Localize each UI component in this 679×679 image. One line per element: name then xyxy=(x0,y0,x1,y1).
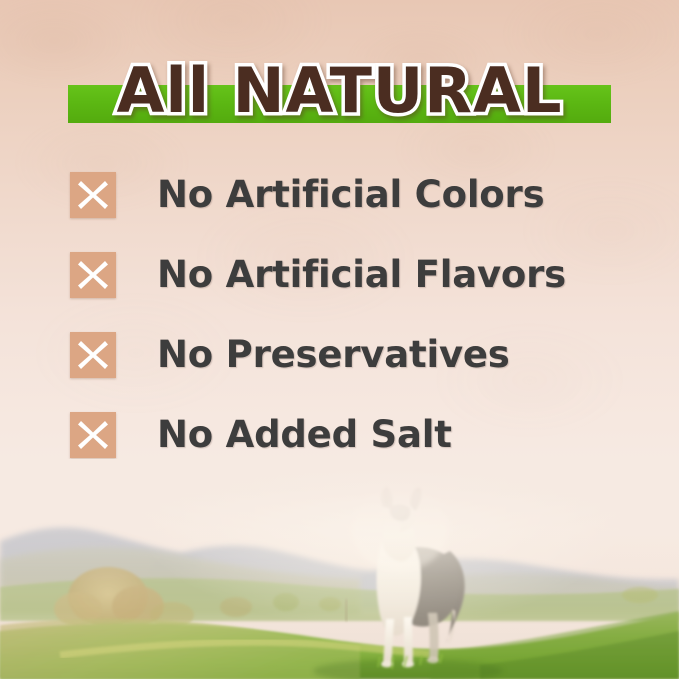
x-mark-icon xyxy=(70,412,116,458)
claim-row: No Artificial Flavors xyxy=(70,252,630,298)
claim-row: No Artificial Colors xyxy=(70,172,630,218)
x-mark-icon xyxy=(70,332,116,378)
claim-row: No Preservatives xyxy=(70,332,630,378)
headline-banner: All NATURAL xyxy=(0,48,679,134)
claim-label: No Artificial Flavors xyxy=(157,252,566,298)
claim-label: No Artificial Colors xyxy=(157,172,544,218)
headline-text: All NATURAL xyxy=(0,48,679,134)
claims-list: No Artificial Colors No Artificial Flavo… xyxy=(70,172,630,458)
claim-label: No Preservatives xyxy=(157,332,510,378)
all-natural-poster: All NATURAL No Artificial Colors No Arti… xyxy=(0,0,679,679)
x-mark-icon xyxy=(70,252,116,298)
claim-label: No Added Salt xyxy=(157,412,452,458)
landscape-dog-photo xyxy=(0,459,679,679)
claim-row: No Added Salt xyxy=(70,412,630,458)
x-mark-icon xyxy=(70,172,116,218)
